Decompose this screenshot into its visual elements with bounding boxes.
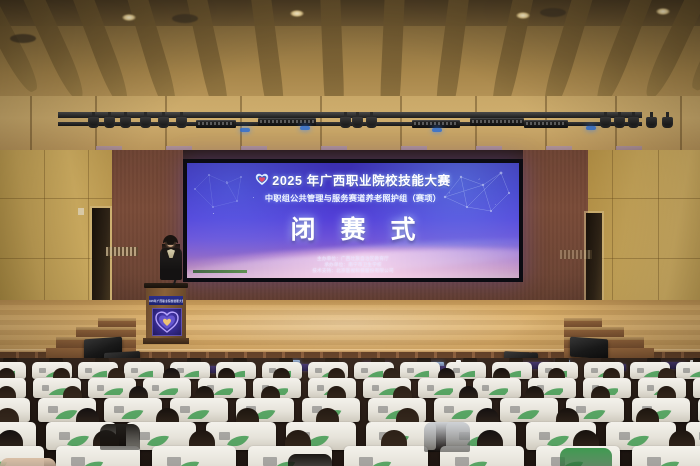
seat-green-leaf-logo <box>451 409 475 419</box>
spotlight-head <box>646 117 657 128</box>
bar-light-fixture <box>524 120 568 128</box>
seat-green-leaf-logo <box>465 460 500 466</box>
led-title-row: 2025 年广西职业院校技能大赛 <box>255 170 450 189</box>
seat-green-leaf-logo <box>547 435 576 447</box>
spotlight-fixture <box>120 112 131 128</box>
seat-green-leaf-logo <box>369 460 404 466</box>
stage-floor-reflection <box>140 306 560 350</box>
podium-crest-emblem-icon <box>152 308 182 336</box>
audience-person-torso <box>0 458 56 466</box>
led-screen-content: 2025 年广西职业院校技能大赛 中职组公共管理与服务赛道养老照护组（赛项） 闭… <box>187 163 519 278</box>
podium-banner: 2025年广西职业院校技能大赛 <box>149 296 183 305</box>
left-wall-grille <box>106 247 138 256</box>
spotlight-fixture <box>628 112 639 128</box>
audience-person-torso <box>424 422 470 452</box>
seat-green-leaf-logo <box>157 387 177 395</box>
spotlight-fixture <box>140 112 151 128</box>
stage-monitor-right-outer <box>570 337 608 360</box>
seat-green-leaf-logo <box>458 370 475 377</box>
spotlight-fixture <box>176 112 187 128</box>
spotlight-head <box>662 117 673 128</box>
bar-light-fixture <box>412 120 460 128</box>
auditorium-scene: 2025 年广西职业院校技能大赛 中职组公共管理与服务赛道养老照护组（赛项） 闭… <box>0 0 700 466</box>
spotlight-fixture <box>600 112 611 128</box>
audience-area <box>0 358 700 466</box>
seat-green-leaf-logo <box>412 370 429 377</box>
led-bottom-green-strip <box>193 270 247 273</box>
right-doorway-interior <box>586 213 602 313</box>
ceiling-pot-light <box>290 10 304 17</box>
audience-seat <box>124 362 164 379</box>
seat-green-leaf-logo <box>307 435 336 447</box>
seat-green-leaf-logo <box>583 409 607 419</box>
spotlight-head <box>340 117 351 128</box>
audience-person-torso <box>288 454 332 466</box>
ceiling-vent <box>10 34 36 43</box>
spotlight-head <box>88 117 99 128</box>
podium[interactable]: 2025年广西职业院校技能大赛 <box>146 283 186 343</box>
spotlight-fixture <box>366 112 377 128</box>
butterfly-wing-emblem-icon <box>255 173 269 186</box>
spotlight-head <box>614 117 625 128</box>
fixture-blue-glow <box>240 128 250 132</box>
seat-green-leaf-logo <box>102 387 122 395</box>
seat-green-leaf-logo <box>67 435 96 447</box>
spotlight-head <box>628 117 639 128</box>
spotlight-head <box>158 117 169 128</box>
spotlight-head <box>600 117 611 128</box>
ceiling-vent <box>540 8 566 17</box>
seat-green-leaf-logo <box>182 370 199 377</box>
ceiling-dark-band <box>0 0 700 26</box>
seat-green-leaf-logo <box>187 409 211 419</box>
audience-seat <box>632 446 700 466</box>
seat-green-leaf-logo <box>212 387 232 395</box>
audience-seat <box>344 446 428 466</box>
left-doorway[interactable] <box>92 208 110 314</box>
ceiling-pot-light <box>656 8 670 15</box>
audience-person-torso <box>100 424 140 450</box>
fixture-blue-glow <box>432 128 442 132</box>
presenter-at-podium <box>160 236 182 286</box>
audience-seat <box>152 446 236 466</box>
seat-green-leaf-logo <box>121 409 145 419</box>
spotlight-head <box>104 117 115 128</box>
led-title-main: 2025 年广西职业院校技能大赛 <box>272 170 450 189</box>
spotlight-fixture <box>104 112 115 128</box>
left-wall-switch <box>78 208 84 215</box>
spotlight-head <box>140 117 151 128</box>
audience-seat <box>473 378 521 398</box>
audience-seat <box>693 378 700 398</box>
ceiling-panel-seam <box>680 96 682 152</box>
credit-line: 技术支持：北京医视科技股份有限公司 <box>312 268 394 274</box>
bar-light-fixture <box>470 118 524 126</box>
seat-green-leaf-logo <box>642 370 659 377</box>
spotlight-head <box>366 117 377 128</box>
audience-seat <box>104 398 162 422</box>
seat-green-leaf-logo <box>90 370 107 377</box>
right-wall-grille <box>560 250 592 259</box>
seat-green-leaf-logo <box>542 387 562 395</box>
led-screen-surface: 2025 年广西职业院校技能大赛 中职组公共管理与服务赛道养老照护组（赛项） 闭… <box>187 163 519 278</box>
podium-banner-text: 2025年广西职业院校技能大赛 <box>149 299 183 303</box>
fixture-blue-glow <box>586 126 596 130</box>
led-title-sub: 中职组公共管理与服务赛道养老照护组（赛项） <box>265 192 441 204</box>
audience-person-torso <box>560 448 612 466</box>
fixture-blue-glow <box>300 126 310 130</box>
spotlight-head <box>120 117 131 128</box>
seat-green-leaf-logo <box>627 435 656 447</box>
led-title-headline: 闭 赛 式 <box>282 210 425 246</box>
audience-seat <box>143 378 191 398</box>
podium-base <box>143 338 189 344</box>
seat-green-leaf-logo <box>688 370 700 377</box>
seat-green-leaf-logo <box>81 460 116 466</box>
audience-seat <box>676 362 700 379</box>
seat-green-leaf-logo <box>177 460 212 466</box>
bar-light-fixture <box>258 118 316 126</box>
audience-seat <box>400 362 440 379</box>
podium-body: 2025年广西职业院校技能大赛 <box>146 288 186 338</box>
seat-green-leaf-logo <box>227 435 256 447</box>
seat-green-leaf-logo <box>487 387 507 395</box>
spotlight-fixture <box>340 112 351 128</box>
ceiling-pot-light <box>516 12 530 19</box>
spotlight-fixture <box>88 112 99 128</box>
spotlight-fixture <box>158 112 169 128</box>
seat-green-leaf-logo <box>366 370 383 377</box>
left-doorway-interior <box>92 208 110 314</box>
seat-green-leaf-logo <box>517 409 541 419</box>
seat-green-leaf-logo <box>432 387 452 395</box>
bar-light-fixture <box>196 120 236 128</box>
right-doorway[interactable] <box>586 213 602 313</box>
led-screen[interactable]: 2025 年广西职业院校技能大赛 中职组公共管理与服务赛道养老照护组（赛项） 闭… <box>183 159 523 282</box>
seat-green-leaf-logo <box>147 435 176 447</box>
spotlight-fixture <box>352 112 363 128</box>
ceiling-panel-seam <box>30 96 32 152</box>
spotlight-fixture <box>646 112 657 128</box>
seat-green-leaf-logo <box>657 460 692 466</box>
ceiling-vent <box>172 14 198 23</box>
led-credits-block: 主办单位：广西壮族自治区教育厅 承办单位：南宁市卫生学校 技术支持：北京医视科技… <box>312 256 394 274</box>
audience-seat <box>500 398 558 422</box>
spotlight-head <box>176 117 187 128</box>
spotlight-fixture <box>614 112 625 128</box>
spotlight-head <box>352 117 363 128</box>
spotlight-fixture <box>662 112 673 128</box>
ceiling-pot-light <box>122 14 136 21</box>
seat-green-leaf-logo <box>136 370 153 377</box>
